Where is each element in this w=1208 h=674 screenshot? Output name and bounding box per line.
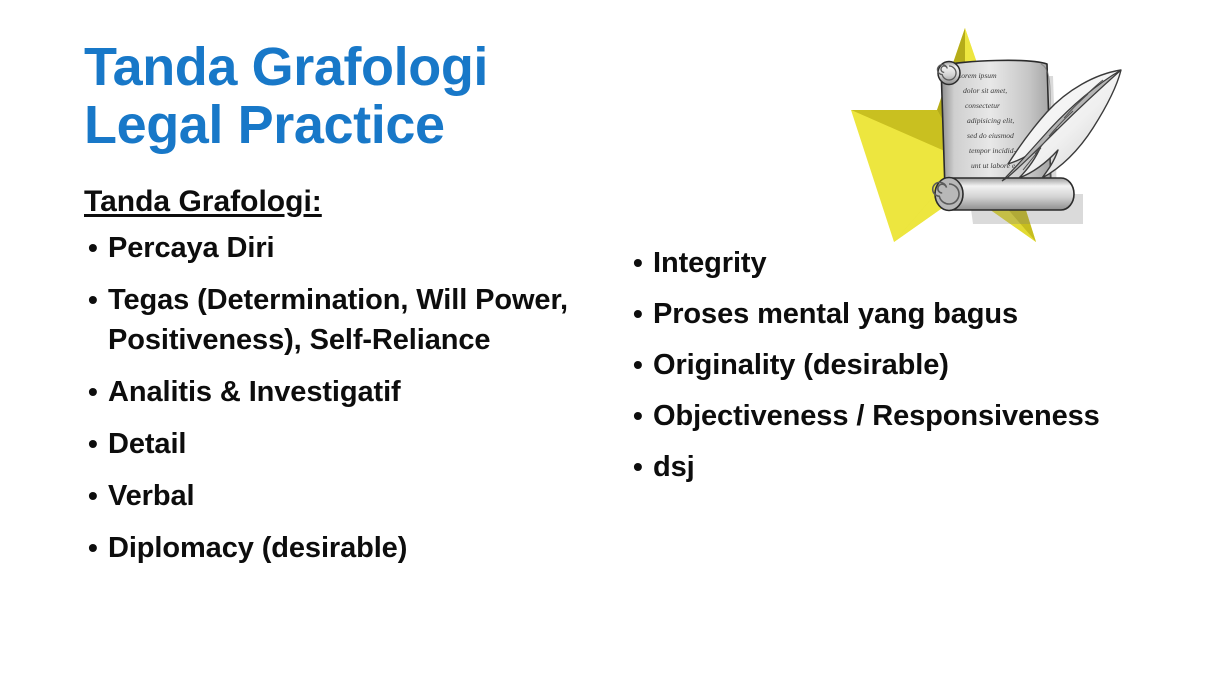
scroll-line: sed do eiusmod bbox=[967, 131, 1014, 140]
list-item-label: Diplomacy (desirable) bbox=[108, 528, 588, 568]
star-scroll-quill-image: Lorem ipsum dolor sit amet, consectetur … bbox=[845, 18, 1155, 288]
list-item: • Diplomacy (desirable) bbox=[88, 528, 588, 568]
list-item: • Proses mental yang bagus bbox=[633, 294, 1138, 334]
list-item: • Originality (desirable) bbox=[633, 345, 1138, 385]
bullet-dot-icon: • bbox=[633, 345, 653, 385]
list-item: • Objectiveness / Responsiveness bbox=[633, 396, 1138, 436]
bullet-dot-icon: • bbox=[88, 528, 108, 568]
bullet-dot-icon: • bbox=[633, 447, 653, 487]
list-item-label: Detail bbox=[108, 424, 588, 464]
bullet-dot-icon: • bbox=[633, 396, 653, 436]
list-item: • Tegas (Determination, Will Power, Posi… bbox=[88, 280, 588, 360]
scroll-bottom-roll bbox=[933, 178, 1074, 211]
list-item-label: Verbal bbox=[108, 476, 588, 516]
title-line-2: Legal Practice bbox=[84, 96, 704, 154]
scroll-top-roll bbox=[937, 62, 960, 85]
list-item: • Detail bbox=[88, 424, 588, 464]
scroll-line: dolor sit amet, bbox=[963, 86, 1007, 95]
list-item-label: Analitis & Investigatif bbox=[108, 372, 588, 412]
list-item-label: Proses mental yang bagus bbox=[653, 294, 1138, 334]
left-bullet-list: • Percaya Diri • Tegas (Determination, W… bbox=[88, 228, 588, 580]
list-item-label: Objectiveness / Responsiveness bbox=[653, 396, 1138, 436]
scroll-line: Lorem ipsum bbox=[956, 71, 997, 80]
scroll-line: tempor incidid- bbox=[969, 146, 1017, 155]
scroll-line: consectetur bbox=[965, 101, 1000, 110]
list-item-label: dsj bbox=[653, 447, 1138, 487]
list-item-label: Tegas (Determination, Will Power, Positi… bbox=[108, 280, 588, 360]
bullet-dot-icon: • bbox=[633, 294, 653, 334]
page-title: Tanda Grafologi Legal Practice bbox=[84, 38, 704, 154]
list-item: • Verbal bbox=[88, 476, 588, 516]
title-line-1: Tanda Grafologi bbox=[84, 38, 704, 96]
list-item-label: Percaya Diri bbox=[108, 228, 588, 268]
bullet-dot-icon: • bbox=[88, 372, 108, 412]
slide-canvas: Tanda Grafologi Legal Practice Tanda Gra… bbox=[0, 0, 1208, 674]
bullet-dot-icon: • bbox=[88, 280, 108, 320]
bullet-dot-icon: • bbox=[88, 476, 108, 516]
list-item: • Percaya Diri bbox=[88, 228, 588, 268]
bullet-dot-icon: • bbox=[88, 424, 108, 464]
list-item-label: Originality (desirable) bbox=[653, 345, 1138, 385]
subheading: Tanda Grafologi: bbox=[84, 185, 322, 219]
bullet-dot-icon: • bbox=[88, 228, 108, 268]
list-item: • dsj bbox=[633, 447, 1138, 487]
scroll-line: adipisicing elit, bbox=[967, 116, 1014, 125]
bullet-dot-icon: • bbox=[633, 243, 653, 283]
list-item: • Analitis & Investigatif bbox=[88, 372, 588, 412]
